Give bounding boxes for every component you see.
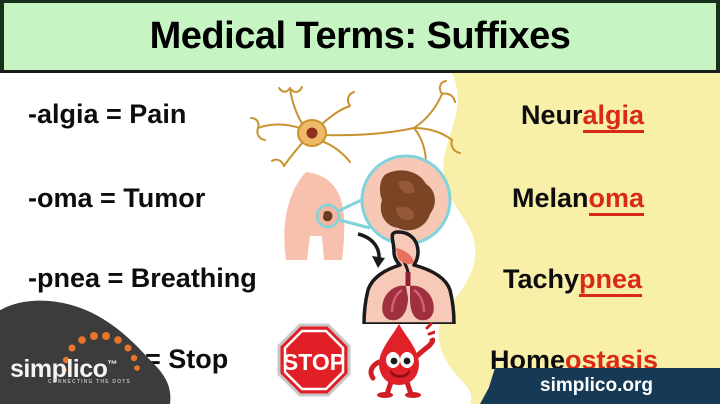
logo-trademark: ™ bbox=[107, 360, 117, 371]
term-suffix: algia bbox=[583, 100, 645, 133]
banner-right-edge bbox=[716, 3, 720, 70]
stop-sign-illustration: STOP bbox=[277, 323, 351, 402]
site-url: simplico.org bbox=[540, 375, 653, 397]
term-root: Melan bbox=[512, 183, 589, 213]
slide-canvas: Medical Terms: Suffixes -algia = Pain -o… bbox=[0, 0, 720, 404]
term-neuralgia: Neuralgia bbox=[521, 100, 644, 131]
title-banner: Medical Terms: Suffixes bbox=[0, 0, 720, 73]
simplico-logo-blob bbox=[0, 300, 180, 404]
term-root: Neur bbox=[521, 100, 583, 130]
page-title: Medical Terms: Suffixes bbox=[150, 17, 571, 55]
term-tachypnea: Tachypnea bbox=[503, 264, 642, 295]
logo-tagline: CONNECTING THE DOTS bbox=[48, 379, 131, 385]
lungs-illustration bbox=[352, 228, 464, 329]
term-suffix: pnea bbox=[579, 264, 642, 297]
blood-drop-mascot bbox=[365, 322, 435, 403]
terms-column: Neuralgia Melanoma Tachypnea Homeostasis bbox=[470, 73, 720, 404]
term-suffix: oma bbox=[589, 183, 645, 216]
term-melanoma: Melanoma bbox=[512, 183, 644, 214]
definition-row-pnea: -pnea = Breathing bbox=[28, 263, 257, 294]
stop-sign-label: STOP bbox=[283, 349, 345, 375]
banner-left-edge bbox=[0, 3, 4, 70]
term-root: Tachy bbox=[503, 264, 579, 294]
definition-row-algia: -algia = Pain bbox=[28, 99, 186, 130]
definition-row-oma: -oma = Tumor bbox=[28, 183, 205, 214]
